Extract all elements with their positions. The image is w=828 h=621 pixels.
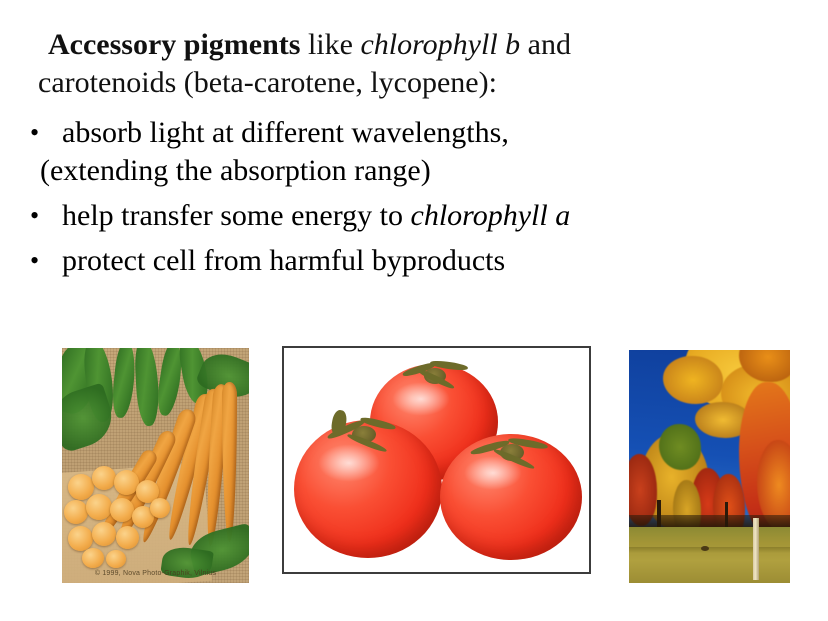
bullet-item-2-italic: chlorophyll a [411,199,571,232]
carrot-slice [110,498,134,522]
bullet-dot-icon: • [30,197,39,235]
bullet-item-1-label: absorb light at different wavelengths, [0,114,509,152]
tomatoes-photo [282,346,591,574]
lead-mid-1: like [300,28,360,61]
field-debris [701,546,709,551]
lead-paragraph-line-1: Accessory pigments like chlorophyll b an… [0,0,828,64]
photo-credit-caption: © 1999, Nova Photo-Graphik, Vilnius [62,567,249,581]
carrot-slice [68,526,93,551]
tomato-highlight [318,444,380,482]
carrot-slice [92,522,116,546]
bullet-item-2-label: help transfer some energy to chlorophyll… [0,197,570,235]
lead-mid-2: and [520,28,571,61]
slide-text-block: Accessory pigments like chlorophyll b an… [0,0,828,280]
carrot-slice [92,466,116,490]
carrot-slice [150,498,170,518]
carrot-slice [116,526,139,549]
autumn-trees-photo [629,350,790,583]
canopy-golden [663,356,723,404]
bullet-dot-icon: • [30,114,39,152]
carrots-photo: © 1999, Nova Photo-Graphik, Vilnius [62,348,249,583]
field-shadow [629,547,790,553]
bullet-item-3-label: protect cell from harmful byproducts [0,242,505,280]
bullet-item-2: • help transfer some energy to chlorophy… [0,197,828,235]
carrot-slice [64,500,88,524]
carrot-slice [82,548,104,568]
tomato-highlight [392,382,450,416]
lead-paragraph-line-2: carotenoids (beta-carotene, lycopene): [0,64,828,102]
lead-bold-term: Accessory pigments [48,28,300,61]
carrot-slice [86,494,112,520]
bullet-item-3: • protect cell from harmful byproducts [0,242,828,280]
bullet-item-2-plain: help transfer some energy to [62,199,411,232]
bullet-dot-icon: • [30,242,39,280]
lead-italic-term: chlorophyll b [360,28,520,61]
fence-post [753,518,759,580]
tree-green-tint [659,424,701,470]
bullet-item-1-continuation: (extending the absorption range) [0,152,828,190]
grass-field [629,527,790,583]
carrot-slice [106,550,126,568]
bullet-item-1: • absorb light at different wavelengths, [0,114,828,152]
